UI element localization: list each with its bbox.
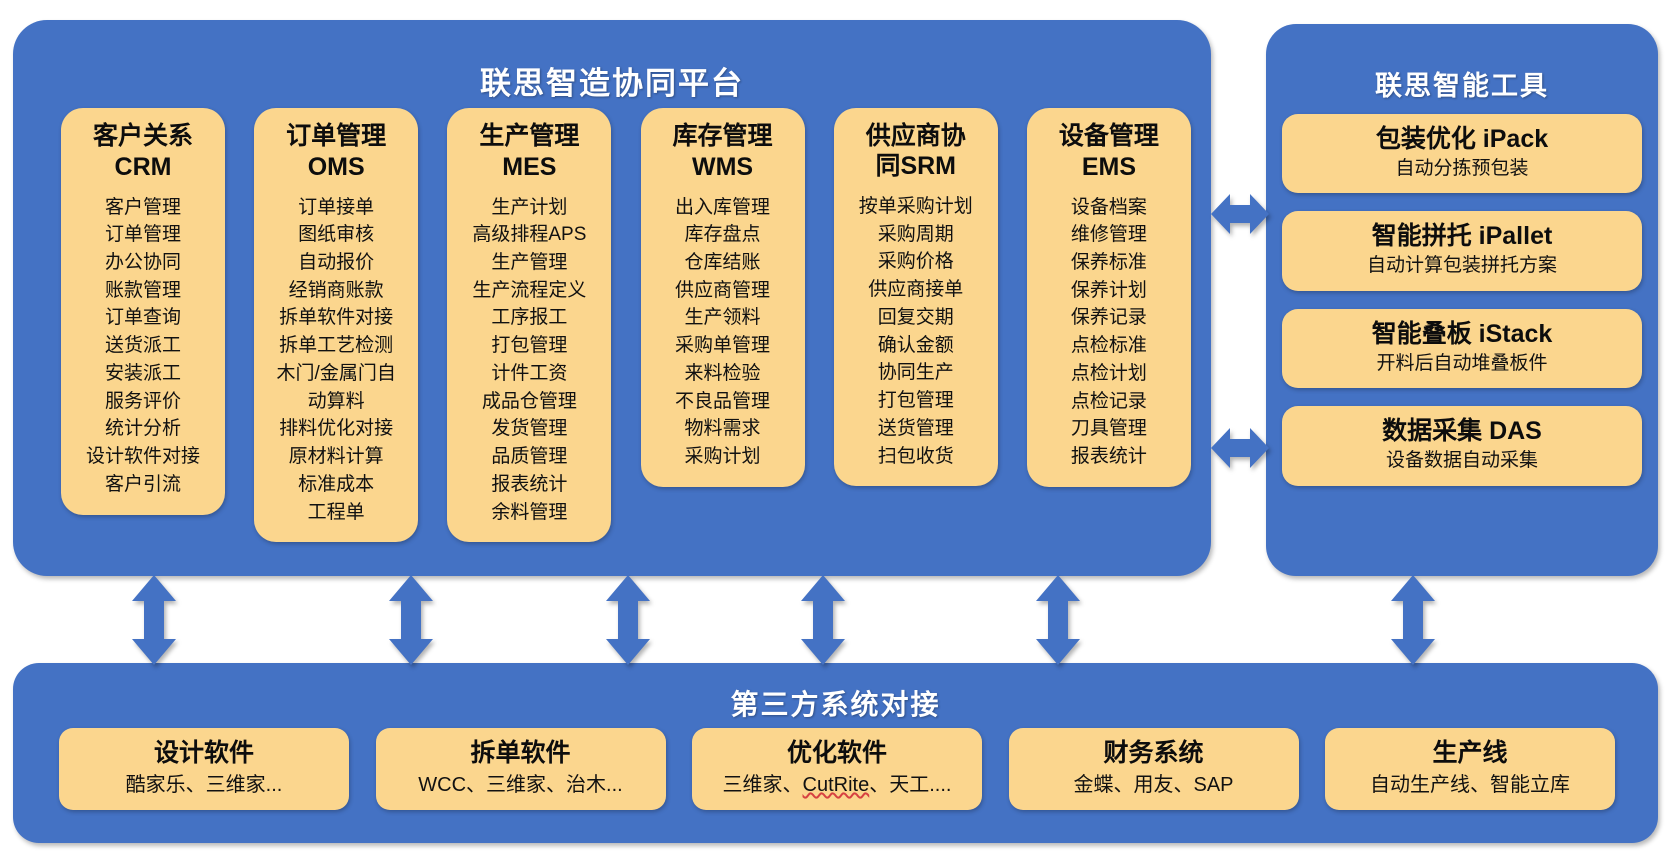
module-title-ems: 设备管理 [1059, 122, 1159, 152]
tool-card-list: 包装优化 iPack 自动分拣预包装 智能拼托 iPallet 自动计算包装拼托… [1282, 114, 1642, 486]
third-party-card-design-software[interactable]: 设计软件 酷家乐、三维家... [59, 728, 349, 810]
module-item[interactable]: 生产领料 [645, 304, 801, 332]
tool-card-istack[interactable]: 智能叠板 iStack 开料后自动堆叠板件 [1282, 309, 1642, 388]
tool-title: 智能拼托 iPallet [1290, 222, 1634, 251]
module-item[interactable]: 计件工资 [451, 360, 607, 388]
tool-title: 智能叠板 iStack [1290, 320, 1634, 349]
tools-panel-title: 联思智能工具 [1266, 64, 1658, 103]
module-item[interactable]: 原材料计算 [258, 443, 414, 471]
diagram-canvas: 联思智造协同平台 客户关系 CRM 客户管理 订单管理 办公协同 账款管理 订单… [0, 0, 1672, 859]
module-item[interactable]: 拆单工艺检测 [258, 332, 414, 360]
double-arrow-horizontal-icon [1211, 420, 1269, 476]
module-item[interactable]: 账款管理 [65, 277, 221, 305]
module-item[interactable]: 扫包收货 [838, 443, 994, 471]
module-item[interactable]: 仓库结账 [645, 249, 801, 277]
tools-panel: 联思智能工具 包装优化 iPack 自动分拣预包装 智能拼托 iPallet 自… [1266, 24, 1658, 576]
module-item[interactable]: 标准成本 [258, 471, 414, 499]
third-party-subtitle: 三维家、CutRite、天工.... [698, 772, 976, 798]
module-card-row: 客户关系 CRM 客户管理 订单管理 办公协同 账款管理 订单查询 送货派工 安… [61, 108, 1191, 560]
module-item[interactable]: 点检计划 [1031, 360, 1187, 388]
module-code-oms: OMS [308, 152, 365, 182]
module-item[interactable]: 回复交期 [838, 304, 994, 332]
platform-panel: 联思智造协同平台 客户关系 CRM 客户管理 订单管理 办公协同 账款管理 订单… [13, 20, 1211, 576]
module-item[interactable]: 采购计划 [645, 443, 801, 471]
module-item[interactable]: 品质管理 [451, 443, 607, 471]
module-title-srm: 供应商协 同SRM [866, 122, 966, 181]
module-title-oms: 订单管理 [286, 122, 386, 152]
double-arrow-vertical-icon [600, 575, 656, 665]
module-card-wms[interactable]: 库存管理 WMS 出入库管理 库存盘点 仓库结账 供应商管理 生产领料 采购单管… [641, 108, 805, 487]
tool-subtitle: 设备数据自动采集 [1290, 449, 1634, 474]
module-item[interactable]: 报表统计 [451, 471, 607, 499]
module-item[interactable]: 办公协同 [65, 249, 221, 277]
module-item[interactable]: 拆单软件对接 [258, 304, 414, 332]
third-party-card-split-order-software[interactable]: 拆单软件 WCC、三维家、治木... [376, 728, 666, 810]
module-item-list-ems: 设备档案 维修管理 保养标准 保养计划 保养记录 点检标准 点检计划 点检记录 … [1031, 194, 1187, 471]
module-card-oms[interactable]: 订单管理 OMS 订单接单 图纸审核 自动报价 经销商账款 拆单软件对接 拆单工… [254, 108, 418, 542]
module-item[interactable]: 打包管理 [838, 387, 994, 415]
module-code-ems: EMS [1082, 152, 1136, 182]
module-item[interactable]: 点检记录 [1031, 388, 1187, 416]
double-arrow-vertical-icon [383, 575, 439, 665]
module-item[interactable]: 工序报工 [451, 304, 607, 332]
module-item[interactable]: 自动报价 [258, 249, 414, 277]
module-title-mes: 生产管理 [479, 122, 579, 152]
module-item[interactable]: 协同生产 [838, 359, 994, 387]
module-item[interactable]: 经销商账款 [258, 277, 414, 305]
module-item[interactable]: 保养计划 [1031, 277, 1187, 305]
module-item[interactable]: 服务评价 [65, 388, 221, 416]
third-party-title: 优化软件 [698, 738, 976, 768]
module-code-mes: MES [502, 152, 556, 182]
module-item-list-srm: 按单采购计划 采购周期 采购价格 供应商接单 回复交期 确认金额 协同生产 打包… [838, 193, 994, 470]
module-item[interactable]: 来料检验 [645, 360, 801, 388]
third-party-panel: 第三方系统对接 设计软件 酷家乐、三维家... 拆单软件 WCC、三维家、治木.… [13, 663, 1658, 843]
module-item[interactable]: 发货管理 [451, 415, 607, 443]
module-item[interactable]: 设备档案 [1031, 194, 1187, 222]
module-item[interactable]: 供应商管理 [645, 277, 801, 305]
third-party-title: 拆单软件 [382, 738, 660, 768]
tool-subtitle: 自动计算包装拼托方案 [1290, 254, 1634, 279]
module-item[interactable]: 送货管理 [838, 415, 994, 443]
third-party-subtitle: 自动生产线、智能立库 [1331, 772, 1609, 798]
module-item[interactable]: 生产管理 [451, 249, 607, 277]
third-party-subtitle: WCC、三维家、治木... [382, 772, 660, 798]
module-item[interactable]: 出入库管理 [645, 194, 801, 222]
module-item[interactable]: 库存盘点 [645, 221, 801, 249]
third-party-panel-title: 第三方系统对接 [13, 683, 1658, 723]
third-party-card-row: 设计软件 酷家乐、三维家... 拆单软件 WCC、三维家、治木... 优化软件 … [59, 728, 1615, 810]
module-item[interactable]: 木门/金属门自 动算料 [258, 360, 414, 415]
module-title-crm: 客户关系 [93, 122, 193, 152]
module-item[interactable]: 保养记录 [1031, 304, 1187, 332]
module-card-crm[interactable]: 客户关系 CRM 客户管理 订单管理 办公协同 账款管理 订单查询 送货派工 安… [61, 108, 225, 515]
tool-title: 数据采集 DAS [1290, 417, 1634, 446]
module-item[interactable]: 工程单 [258, 499, 414, 527]
tool-card-das[interactable]: 数据采集 DAS 设备数据自动采集 [1282, 406, 1642, 485]
module-item[interactable]: 高级排程APS [451, 221, 607, 249]
module-item[interactable]: 设计软件对接 [65, 443, 221, 471]
module-item[interactable]: 打包管理 [451, 332, 607, 360]
double-arrow-vertical-icon [1385, 575, 1441, 665]
module-code-wms: WMS [692, 152, 753, 182]
subtitle-prefix: 三维家、 [723, 774, 803, 796]
subtitle-suffix: 、天工.... [869, 774, 951, 796]
module-item[interactable]: 图纸审核 [258, 221, 414, 249]
module-item[interactable]: 安装派工 [65, 360, 221, 388]
module-item[interactable]: 送货派工 [65, 332, 221, 360]
module-item[interactable]: 余料管理 [451, 499, 607, 527]
module-card-mes[interactable]: 生产管理 MES 生产计划 高级排程APS 生产管理 生产流程定义 工序报工 打… [447, 108, 611, 542]
module-item[interactable]: 生产计划 [451, 194, 607, 222]
module-item[interactable]: 物料需求 [645, 415, 801, 443]
module-item[interactable]: 订单接单 [258, 194, 414, 222]
tool-subtitle: 自动分拣预包装 [1290, 157, 1634, 182]
module-item[interactable]: 采购单管理 [645, 332, 801, 360]
module-item-list-oms: 订单接单 图纸审核 自动报价 经销商账款 拆单软件对接 拆单工艺检测 木门/金属… [258, 194, 414, 527]
module-item[interactable]: 采购价格 [838, 248, 994, 276]
spellcheck-misspelled-word: CutRite [803, 774, 870, 796]
double-arrow-vertical-icon [795, 575, 851, 665]
third-party-card-optimization-software[interactable]: 优化软件 三维家、CutRite、天工.... [692, 728, 982, 810]
module-item[interactable]: 刀具管理 [1031, 415, 1187, 443]
module-item[interactable]: 不良品管理 [645, 388, 801, 416]
module-item[interactable]: 统计分析 [65, 415, 221, 443]
double-arrow-vertical-icon [126, 575, 182, 665]
third-party-title: 财务系统 [1015, 738, 1293, 768]
module-title-wms: 库存管理 [673, 122, 773, 152]
module-item[interactable]: 生产流程定义 [451, 277, 607, 305]
tool-card-ipack[interactable]: 包装优化 iPack 自动分拣预包装 [1282, 114, 1642, 193]
third-party-subtitle: 酷家乐、三维家... [65, 772, 343, 798]
module-item-list-wms: 出入库管理 库存盘点 仓库结账 供应商管理 生产领料 采购单管理 来料检验 不良… [645, 194, 801, 471]
module-item[interactable]: 客户引流 [65, 471, 221, 499]
tool-card-ipallet[interactable]: 智能拼托 iPallet 自动计算包装拼托方案 [1282, 211, 1642, 290]
tool-title: 包装优化 iPack [1290, 125, 1634, 154]
module-item[interactable]: 确认金额 [838, 332, 994, 360]
module-item[interactable]: 订单管理 [65, 221, 221, 249]
module-item-list-mes: 生产计划 高级排程APS 生产管理 生产流程定义 工序报工 打包管理 计件工资 … [451, 194, 607, 527]
module-item[interactable]: 订单查询 [65, 304, 221, 332]
module-card-ems[interactable]: 设备管理 EMS 设备档案 维修管理 保养标准 保养计划 保养记录 点检标准 点… [1027, 108, 1191, 487]
double-arrow-vertical-icon [1030, 575, 1086, 665]
third-party-card-production-line[interactable]: 生产线 自动生产线、智能立库 [1325, 728, 1615, 810]
third-party-title: 设计软件 [65, 738, 343, 768]
tool-subtitle: 开料后自动堆叠板件 [1290, 352, 1634, 377]
module-item[interactable]: 客户管理 [65, 194, 221, 222]
double-arrow-horizontal-icon [1211, 186, 1269, 242]
module-item-list-crm: 客户管理 订单管理 办公协同 账款管理 订单查询 送货派工 安装派工 服务评价 … [65, 194, 221, 499]
module-card-srm[interactable]: 供应商协 同SRM 按单采购计划 采购周期 采购价格 供应商接单 回复交期 确认… [834, 108, 998, 486]
module-item[interactable]: 排料优化对接 [258, 415, 414, 443]
module-item[interactable]: 按单采购计划 [838, 193, 994, 221]
module-item[interactable]: 报表统计 [1031, 443, 1187, 471]
module-item[interactable]: 供应商接单 [838, 276, 994, 304]
module-item[interactable]: 采购周期 [838, 221, 994, 249]
third-party-subtitle: 金蝶、用友、SAP [1015, 772, 1293, 798]
module-item[interactable]: 点检标准 [1031, 332, 1187, 360]
module-item[interactable]: 保养标准 [1031, 249, 1187, 277]
module-code-crm: CRM [115, 152, 172, 182]
platform-panel-title: 联思智造协同平台 [13, 58, 1211, 103]
third-party-title: 生产线 [1331, 738, 1609, 768]
module-item[interactable]: 成品仓管理 [451, 388, 607, 416]
module-item[interactable]: 维修管理 [1031, 221, 1187, 249]
third-party-card-finance-system[interactable]: 财务系统 金蝶、用友、SAP [1009, 728, 1299, 810]
